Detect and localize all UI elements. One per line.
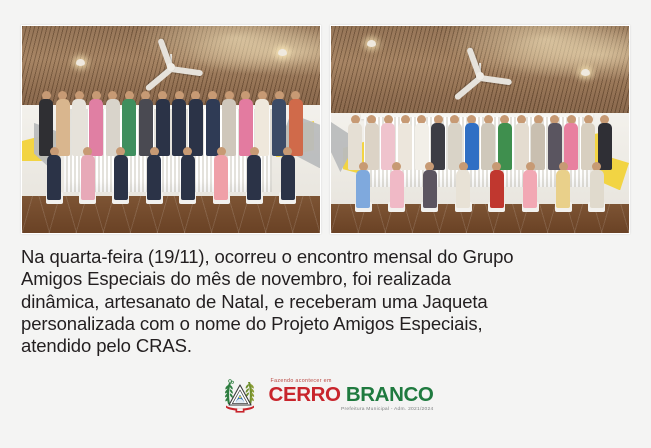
person [281, 147, 294, 200]
fan-hub [476, 72, 484, 80]
person [557, 162, 570, 208]
person [524, 162, 537, 208]
event-photo-right[interactable] [330, 25, 630, 234]
logo-tagline-bottom: Prefeitura Municipal - Adm. 2021/2024 [341, 407, 433, 412]
logo-name-cerro: CERRO [269, 383, 346, 406]
person [424, 162, 437, 208]
coat-of-arms-icon [218, 374, 262, 416]
group-of-people [337, 109, 623, 208]
person [148, 147, 161, 200]
group-of-people [28, 84, 314, 200]
post-canvas: Na quarta-feira (19/11), ocorreu o encon… [0, 0, 651, 448]
person [590, 162, 603, 208]
municipality-logo[interactable]: Fazendo acontecer em CERRO BRANCO Prefei… [0, 372, 651, 418]
caption-line: Amigos Especiais do mês de novembro, foi… [21, 268, 630, 290]
logo-wordmark: Fazendo acontecer em CERRO BRANCO Prefei… [269, 378, 434, 413]
tiled-floor [22, 196, 320, 233]
tiled-floor [331, 204, 629, 233]
event-photo-gallery [21, 25, 630, 234]
person [248, 147, 261, 200]
photo-scene-left [22, 26, 320, 233]
photo-scene-right [331, 26, 629, 233]
caption-line: dinâmica, artesanato de Natal, e receber… [21, 291, 630, 313]
front-row [337, 162, 623, 208]
person [181, 147, 194, 200]
person [490, 162, 503, 208]
person [81, 147, 94, 200]
logo-name-branco: BRANCO [346, 383, 434, 406]
post-caption: Na quarta-feira (19/11), ocorreu o encon… [21, 246, 630, 357]
ceiling-lamp [278, 49, 287, 56]
logo-city-name: CERRO BRANCO [269, 385, 434, 406]
fan-hub [167, 63, 175, 71]
caption-line: atendido pelo CRAS. [21, 335, 630, 357]
person [457, 162, 470, 208]
caption-line: personalizada com o nome do Projeto Amig… [21, 313, 630, 335]
event-photo-left[interactable] [21, 25, 321, 234]
caption-line: Na quarta-feira (19/11), ocorreu o encon… [21, 246, 630, 268]
ceiling-lamp [76, 59, 85, 66]
person [357, 162, 370, 208]
person [390, 162, 403, 208]
person [48, 147, 61, 200]
person [215, 147, 228, 200]
person [115, 147, 128, 200]
front-row [28, 147, 314, 200]
